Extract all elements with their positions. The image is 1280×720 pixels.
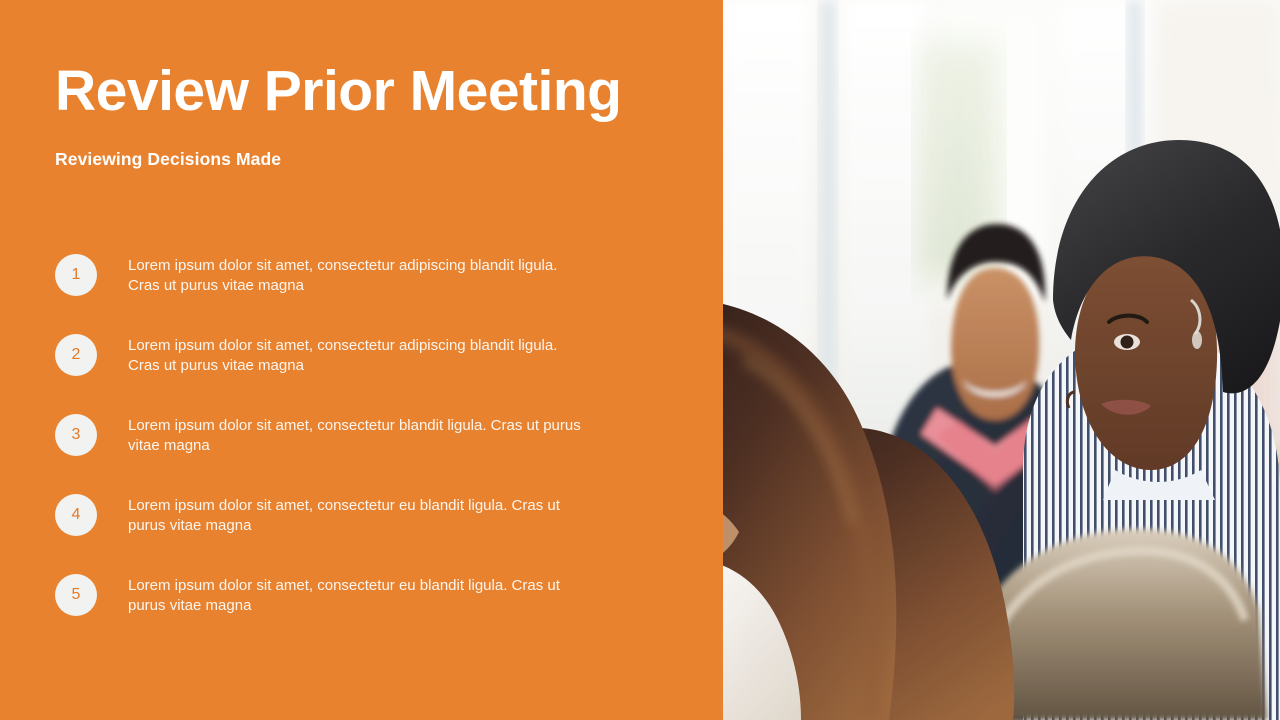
list-item-text: Lorem ipsum dolor sit amet, consectetur … [128,496,588,535]
list-item[interactable]: 3 Lorem ipsum dolor sit amet, consectetu… [55,414,655,494]
list-item[interactable]: 1 Lorem ipsum dolor sit amet, consectetu… [55,254,655,334]
list-item-number-badge: 4 [55,494,97,536]
list-item-text: Lorem ipsum dolor sit amet, consectetur … [128,416,588,455]
list-item-number-badge: 1 [55,254,97,296]
list-item[interactable]: 2 Lorem ipsum dolor sit amet, consectetu… [55,334,655,414]
list-item-text: Lorem ipsum dolor sit amet, consectetur … [128,336,588,375]
page-subtitle: Reviewing Decisions Made [55,149,281,170]
page-title: Review Prior Meeting [55,62,622,122]
list-item[interactable]: 4 Lorem ipsum dolor sit amet, consectetu… [55,494,655,574]
slide: Review Prior Meeting Reviewing Decisions… [0,0,1280,720]
meeting-photo-illustration [723,0,1280,720]
list-item-text: Lorem ipsum dolor sit amet, consectetur … [128,256,588,295]
numbered-list: 1 Lorem ipsum dolor sit amet, consectetu… [55,254,655,654]
list-item[interactable]: 5 Lorem ipsum dolor sit amet, consectetu… [55,574,655,654]
content-panel: Review Prior Meeting Reviewing Decisions… [0,0,723,720]
list-item-number-badge: 5 [55,574,97,616]
list-item-text: Lorem ipsum dolor sit amet, consectetur … [128,576,588,615]
list-item-number-badge: 2 [55,334,97,376]
meeting-photo [723,0,1280,720]
list-item-number-badge: 3 [55,414,97,456]
